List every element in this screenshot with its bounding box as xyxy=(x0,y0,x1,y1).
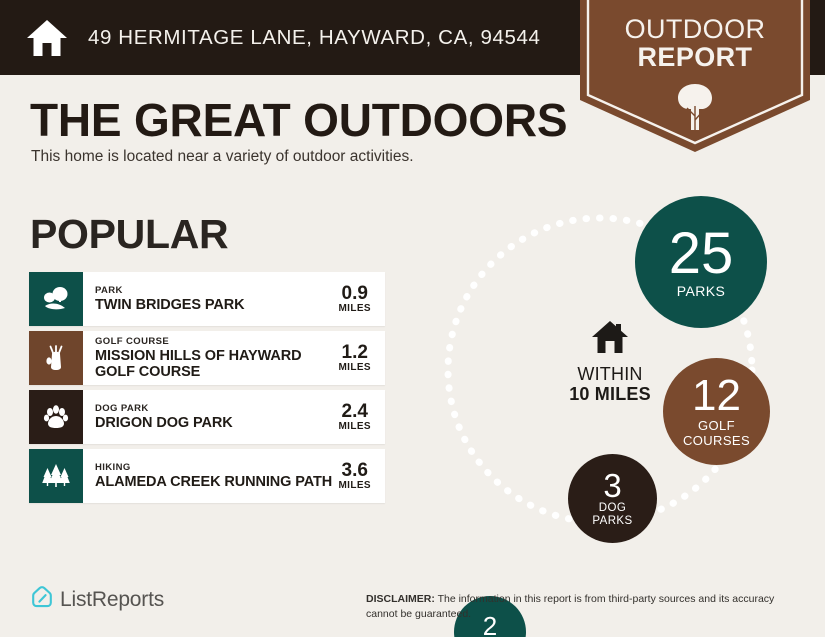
distance-value: 1.2 xyxy=(338,343,371,363)
paw-print-icon xyxy=(29,390,83,444)
list-item[interactable]: PARK TWIN BRIDGES PARK 0.9 MILES xyxy=(29,272,385,326)
center-label-line-1: WITHIN xyxy=(550,365,670,385)
list-item-body: GOLF COURSE MISSION HILLS OF HAYWARD GOL… xyxy=(83,331,385,385)
list-item[interactable]: GOLF COURSE MISSION HILLS OF HAYWARD GOL… xyxy=(29,331,385,385)
distance-value: 2.4 xyxy=(338,402,371,422)
list-item-name: MISSION HILLS OF HAYWARD GOLF COURSE xyxy=(95,348,332,380)
list-item-name: ALAMEDA CREEK RUNNING PATH xyxy=(95,474,332,490)
bubble-dog-parks[interactable]: 3 DOG PARKS xyxy=(568,454,657,543)
disclaimer: DISCLAIMER: The information in this repo… xyxy=(366,592,806,622)
footer: ListReports DISCLAIMER: The information … xyxy=(0,563,825,637)
outdoor-report-badge: OUTDOOR REPORT xyxy=(580,0,810,152)
bubble-golf-courses[interactable]: 12 GOLF COURSES xyxy=(663,358,770,465)
amenities-bubble-chart: 25 PARKS 12 GOLF COURSES 3 DOG PARKS 2 H… xyxy=(410,180,825,560)
bubble-label: PARKS xyxy=(677,284,725,299)
list-item-distance: 2.4 MILES xyxy=(332,402,381,433)
page-subtitle: This home is located near a variety of o… xyxy=(31,148,414,166)
home-icon xyxy=(26,18,68,58)
list-item[interactable]: DOG PARK DRIGON DOG PARK 2.4 MILES xyxy=(29,390,385,444)
disclaimer-label: DISCLAIMER: xyxy=(366,593,435,605)
list-item[interactable]: HIKING ALAMEDA CREEK RUNNING PATH 3.6 MI… xyxy=(29,449,385,503)
outdoor-report-page: 49 HERMITAGE LANE, HAYWARD, CA, 94544 OU… xyxy=(0,0,825,637)
property-address: 49 HERMITAGE LANE, HAYWARD, CA, 94544 xyxy=(88,26,540,50)
list-item-body: PARK TWIN BRIDGES PARK 0.9 MILES xyxy=(83,272,385,326)
list-item-category: HIKING xyxy=(95,462,332,474)
distance-value: 3.6 xyxy=(338,461,371,481)
bubble-label-line-1: DOG xyxy=(599,502,626,514)
chart-center-node: WITHIN 10 MILES xyxy=(550,320,670,405)
distance-value: 0.9 xyxy=(338,284,371,304)
bubble-value: 3 xyxy=(603,470,621,501)
list-item-name: DRIGON DOG PARK xyxy=(95,415,332,431)
listreports-logo[interactable]: ListReports xyxy=(31,585,164,614)
section-title-popular: POPULAR xyxy=(30,211,228,258)
page-title: THE GREAT OUTDOORS xyxy=(30,93,567,147)
park-tree-icon xyxy=(29,272,83,326)
distance-unit: MILES xyxy=(338,303,371,314)
list-item-body: DOG PARK DRIGON DOG PARK 2.4 MILES xyxy=(83,390,385,444)
list-item-category: DOG PARK xyxy=(95,403,332,415)
listreports-logo-text: ListReports xyxy=(60,588,164,612)
list-item-body: HIKING ALAMEDA CREEK RUNNING PATH 3.6 MI… xyxy=(83,449,385,503)
listreports-house-icon xyxy=(31,585,53,614)
bubble-label-line-2: COURSES xyxy=(683,434,750,448)
home-icon xyxy=(550,320,670,359)
bubble-value: 25 xyxy=(669,226,734,281)
distance-unit: MILES xyxy=(338,362,371,373)
bubble-parks[interactable]: 25 PARKS xyxy=(635,196,767,328)
bubble-label-line-2: PARKS xyxy=(592,515,632,527)
distance-unit: MILES xyxy=(338,480,371,491)
list-item-name: TWIN BRIDGES PARK xyxy=(95,297,332,313)
center-label-line-2: 10 MILES xyxy=(550,385,670,405)
list-item-distance: 3.6 MILES xyxy=(332,461,381,492)
list-item-category: PARK xyxy=(95,285,332,297)
golf-bag-icon xyxy=(29,331,83,385)
popular-list: PARK TWIN BRIDGES PARK 0.9 MILES xyxy=(29,272,385,508)
list-item-category: GOLF COURSE xyxy=(95,336,332,348)
list-item-distance: 1.2 MILES xyxy=(332,343,381,374)
bubble-label-line-1: GOLF xyxy=(698,419,735,433)
list-item-distance: 0.9 MILES xyxy=(332,284,381,315)
pine-trees-icon xyxy=(29,449,83,503)
bubble-value: 12 xyxy=(692,375,741,417)
distance-unit: MILES xyxy=(338,421,371,432)
